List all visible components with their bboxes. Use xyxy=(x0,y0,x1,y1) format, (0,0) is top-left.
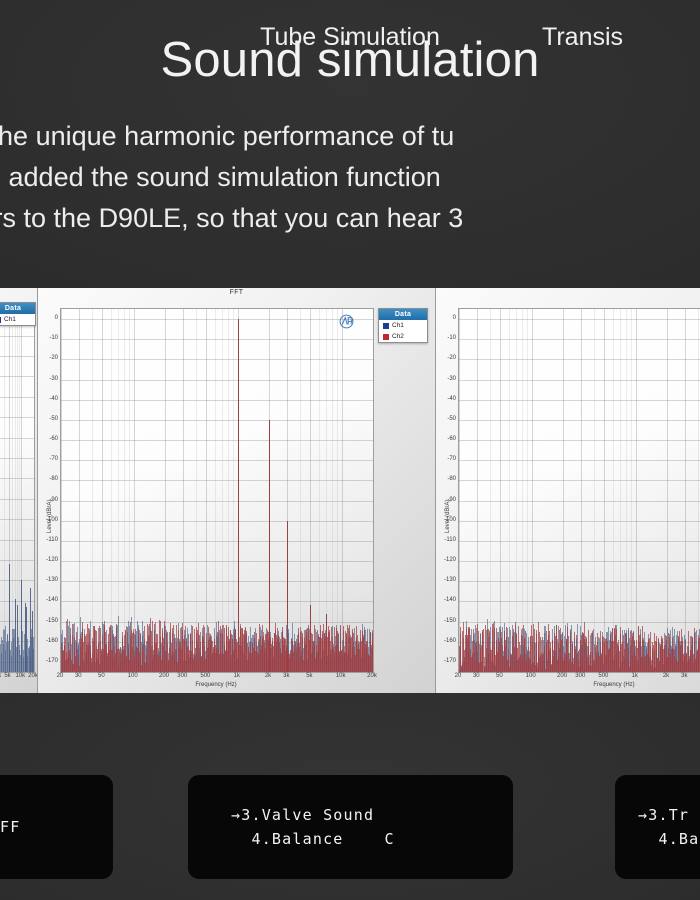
legend-title: Data xyxy=(379,309,427,320)
gridline-horizontal xyxy=(459,420,700,421)
y-axis-tick: -60 xyxy=(38,436,58,442)
y-axis-tick: -20 xyxy=(436,355,456,361)
x-axis-label: Frequency (Hz) xyxy=(195,682,236,688)
oled-line-2: 4.Balance C xyxy=(231,827,513,851)
gridline-vertical xyxy=(222,309,223,672)
caption-right: Transis xyxy=(542,23,700,52)
legend-row-ch1: Ch1 xyxy=(379,320,427,331)
x-axis-tick: 100 xyxy=(526,673,536,679)
chart-panel-right: Data Ch1 Ch2 0-10-20-30-40-50-60-70-80-9… xyxy=(436,288,700,693)
y-axis-tick: -10 xyxy=(38,335,58,341)
x-axis-tick: 300 xyxy=(575,673,585,679)
oled-line-2: 4.Ba xyxy=(638,827,700,851)
x-axis-tick: 2k xyxy=(265,673,271,679)
gridline-vertical xyxy=(111,309,112,672)
legend-swatch-ch1 xyxy=(0,317,1,323)
gridline-vertical xyxy=(667,309,668,672)
x-axis-tick: 20k xyxy=(28,673,38,679)
gridline-vertical xyxy=(124,309,125,672)
gridline-vertical xyxy=(12,305,13,672)
y-axis-tick: -110 xyxy=(38,537,58,543)
chart-legend-center: Data Ch1 Ch2 xyxy=(378,308,428,343)
x-axis-tick: 50 xyxy=(496,673,503,679)
legend-swatch-ch1 xyxy=(383,323,389,329)
gridline-vertical xyxy=(477,309,478,672)
gridline-vertical xyxy=(631,309,632,672)
y-axis-tick: -150 xyxy=(38,618,58,624)
gridline-vertical xyxy=(228,309,229,672)
harmonic-peak xyxy=(32,611,33,672)
x-axis-tick: 100 xyxy=(128,673,138,679)
y-axis-tick: 0 xyxy=(436,315,456,321)
gridline-horizontal xyxy=(459,501,700,502)
harmonic-peak xyxy=(310,605,311,672)
y-axis-tick: -10 xyxy=(436,335,456,341)
harmonic-peak xyxy=(17,605,18,672)
legend-row-ch1: Ch1 xyxy=(0,314,35,325)
x-axis-tick: 500 xyxy=(200,673,210,679)
oled-text-left: FF xyxy=(0,775,113,879)
y-axis-tick: -140 xyxy=(38,597,58,603)
y-axis-tick: -40 xyxy=(436,396,456,402)
gridline-vertical xyxy=(509,309,510,672)
gridline-vertical xyxy=(300,309,301,672)
x-axis-label: Frequency (Hz) xyxy=(593,682,634,688)
oled-line-1: FF xyxy=(0,815,113,839)
gridline-vertical xyxy=(522,309,523,672)
oled-line-1: →3.Valve Sound xyxy=(231,803,513,827)
x-axis-tick: 20k xyxy=(367,673,377,679)
gridline-vertical xyxy=(500,309,501,672)
x-axis-tick: 500 xyxy=(598,673,608,679)
oled-display-left[interactable]: FF xyxy=(0,775,113,879)
noise-floor-bin xyxy=(372,633,373,672)
harmonic-peak xyxy=(238,319,239,672)
gridline-vertical xyxy=(490,309,491,672)
y-axis-tick: -30 xyxy=(38,376,58,382)
gridline-vertical xyxy=(532,309,533,672)
gridline-vertical xyxy=(636,309,637,672)
gridline-horizontal xyxy=(459,622,700,623)
x-axis-tick: 5k xyxy=(4,673,10,679)
plot-area-center xyxy=(60,308,374,673)
y-axis-tick: -30 xyxy=(436,376,456,382)
x-axis-tick: 30 xyxy=(75,673,82,679)
hero-paragraph-line-3: sistors to the D90LE, so that you can he… xyxy=(0,198,700,239)
y-axis-tick: -160 xyxy=(436,638,456,644)
x-axis-tick: 50 xyxy=(98,673,105,679)
gridline-vertical xyxy=(129,309,130,672)
gridline-horizontal xyxy=(459,581,700,582)
y-axis-tick: -150 xyxy=(436,618,456,624)
y-axis-tick: -160 xyxy=(38,638,58,644)
oled-text-right: →3.Tr 4.Ba xyxy=(615,775,700,879)
hero-paragraph-line-1: g to the unique harmonic performance of … xyxy=(0,116,700,157)
gridline-vertical xyxy=(233,309,234,672)
y-axis-tick: 0 xyxy=(38,315,58,321)
gridline-vertical xyxy=(459,309,460,672)
harmonic-peak xyxy=(30,588,31,672)
hero-paragraph-line-4: nce. xyxy=(0,239,700,280)
y-axis-tick: -80 xyxy=(38,476,58,482)
y-axis-label: Level (dBrA) xyxy=(445,500,451,533)
gridline-vertical xyxy=(102,309,103,672)
chart-panel-center: FFT Data Ch1 Ch2 0-10-20-30-40-50-60-70 xyxy=(38,288,436,693)
y-axis-tick: -70 xyxy=(38,456,58,462)
hero-paragraph: g to the unique harmonic performance of … xyxy=(0,116,700,280)
noise-floor-bin xyxy=(33,637,34,672)
y-axis-tick: -70 xyxy=(436,456,456,462)
chart-title-center: FFT xyxy=(38,289,435,296)
legend-title: Data xyxy=(0,303,35,314)
legend-swatch-ch2 xyxy=(383,334,389,340)
y-axis-tick: -40 xyxy=(38,396,58,402)
harmonic-peak xyxy=(9,564,10,672)
y-axis-tick: -80 xyxy=(436,476,456,482)
gridline-horizontal xyxy=(459,319,700,320)
gridline-vertical xyxy=(698,309,699,672)
gridline-horizontal xyxy=(459,380,700,381)
gridline-vertical xyxy=(373,309,374,672)
ap-logo-icon xyxy=(338,313,355,330)
gridline-vertical xyxy=(342,309,343,672)
gridline-horizontal xyxy=(459,521,700,522)
gridline-vertical xyxy=(4,305,5,672)
y-axis-tick: -170 xyxy=(38,658,58,664)
caption-center: Tube Simulation xyxy=(200,23,500,52)
gridline-horizontal xyxy=(459,339,700,340)
x-axis-tick: 1k xyxy=(632,673,638,679)
gridline-vertical xyxy=(92,309,93,672)
harmonic-peak xyxy=(26,607,27,672)
x-axis-tick: 3k xyxy=(283,673,289,679)
gridline-vertical xyxy=(620,309,621,672)
gridline-vertical xyxy=(613,309,614,672)
y-axis-tick: -140 xyxy=(436,597,456,603)
harmonic-peak xyxy=(269,420,270,672)
y-axis-tick: -170 xyxy=(436,658,456,664)
chart-strip: 2021/4/16 15:03:07.373 Data Ch1 0-10-20-… xyxy=(0,288,700,693)
gridline-vertical xyxy=(337,309,338,672)
y-axis-label: Level (dBrA) xyxy=(47,500,53,533)
gridline-vertical xyxy=(34,305,35,672)
gridline-vertical xyxy=(319,309,320,672)
x-axis-tick: 10k xyxy=(15,673,25,679)
oled-line-1: →3.Tr xyxy=(638,803,700,827)
plot-area-left xyxy=(0,304,35,673)
x-axis-tick: 200 xyxy=(159,673,169,679)
gridline-vertical xyxy=(165,309,166,672)
gridline-vertical xyxy=(516,309,517,672)
legend-row-ch2: Ch2 xyxy=(379,331,427,342)
x-axis-tick: 3k xyxy=(681,673,687,679)
gridline-vertical xyxy=(685,309,686,672)
gridline-vertical xyxy=(594,309,595,672)
hero-paragraph-line-2: s, we added the sound simulation functio… xyxy=(0,157,700,198)
gridline-vertical xyxy=(563,309,564,672)
gridline-vertical xyxy=(626,309,627,672)
chart-legend-left: Data Ch1 xyxy=(0,302,36,326)
gridline-horizontal xyxy=(459,440,700,441)
slide-root: Sound simulation g to the unique harmoni… xyxy=(0,0,700,900)
legend-label-ch2: Ch2 xyxy=(392,333,404,340)
oled-display-right[interactable]: →3.Tr 4.Ba xyxy=(615,775,700,879)
x-axis-tick: 2k xyxy=(663,673,669,679)
y-axis-tick: -20 xyxy=(38,355,58,361)
legend-label-ch1: Ch1 xyxy=(4,316,16,323)
y-axis-tick: -110 xyxy=(436,537,456,543)
gridline-horizontal xyxy=(459,601,700,602)
gridline-horizontal xyxy=(459,460,700,461)
harmonic-peak xyxy=(326,614,327,673)
gridline-horizontal xyxy=(459,480,700,481)
x-axis-tick: 5k xyxy=(306,673,312,679)
gridline-vertical xyxy=(19,305,20,672)
y-axis-tick: -60 xyxy=(436,436,456,442)
oled-display-center[interactable]: →3.Valve Sound 4.Balance C xyxy=(188,775,513,879)
y-axis-tick: -120 xyxy=(436,557,456,563)
x-axis-tick: 20 xyxy=(455,673,462,679)
x-axis-tick: 10k xyxy=(336,673,346,679)
y-axis-tick: -120 xyxy=(38,557,58,563)
gridline-vertical xyxy=(215,309,216,672)
gridline-vertical xyxy=(581,309,582,672)
y-axis-tick: -130 xyxy=(38,577,58,583)
chart-panel-left: 2021/4/16 15:03:07.373 Data Ch1 0-10-20-… xyxy=(0,288,38,693)
plot-area-right xyxy=(458,308,700,673)
x-axis-tick: 300 xyxy=(177,673,187,679)
gridline-vertical xyxy=(332,309,333,672)
gridline-vertical xyxy=(183,309,184,672)
gridline-vertical xyxy=(61,309,62,672)
gridline-vertical xyxy=(604,309,605,672)
x-axis-tick: 1k xyxy=(234,673,240,679)
harmonic-peak xyxy=(21,580,22,672)
oled-text-center: →3.Valve Sound 4.Balance C xyxy=(188,775,513,879)
legend-label-ch1: Ch1 xyxy=(392,322,404,329)
y-axis-tick: -50 xyxy=(436,416,456,422)
x-axis-tick: 20 xyxy=(57,673,64,679)
gridline-vertical xyxy=(134,309,135,672)
gridline-horizontal xyxy=(459,541,700,542)
x-axis-tick: 200 xyxy=(557,673,567,679)
gridline-horizontal xyxy=(459,400,700,401)
x-axis-tick: 30 xyxy=(473,673,480,679)
y-axis-tick: -130 xyxy=(436,577,456,583)
x-axis-tick: 3k xyxy=(0,673,1,679)
gridline-vertical xyxy=(196,309,197,672)
gridline-horizontal xyxy=(459,561,700,562)
gridline-horizontal xyxy=(459,359,700,360)
y-axis-tick: -50 xyxy=(38,416,58,422)
harmonic-peak xyxy=(15,599,16,672)
harmonic-peak xyxy=(287,521,288,672)
gridline-vertical xyxy=(527,309,528,672)
gridline-vertical xyxy=(206,309,207,672)
